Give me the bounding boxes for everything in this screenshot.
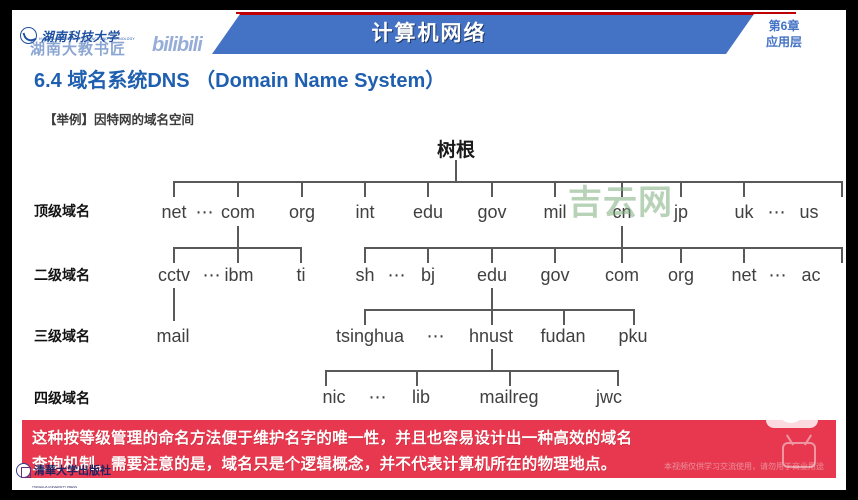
top-level-bus — [174, 181, 842, 183]
tree-node-ac-cn: ac — [801, 265, 820, 286]
tick-int — [364, 181, 366, 197]
play-button[interactable] — [766, 390, 818, 428]
tree-node-fudan: fudan — [540, 326, 585, 347]
slide-canvas: 计算机网络 第6章 应用层 湖南科技大学 HUNAN UNIVERSITY OF… — [12, 10, 846, 490]
cn-bus — [364, 247, 842, 249]
tick-ac-cn — [841, 247, 843, 263]
tick-fudan — [563, 309, 565, 325]
tree-node-sh: sh — [355, 265, 374, 286]
bilibili-watermark: bilibili — [152, 34, 202, 57]
publisher-name: 清華大学出版社 — [34, 462, 111, 478]
tick-mailreg — [509, 370, 511, 386]
tick-com-cn — [621, 247, 623, 263]
section-title-en: （Domain Name System） — [195, 70, 445, 92]
tick-org-cn — [680, 247, 682, 263]
tree-node-org-tld: org — [289, 202, 315, 223]
tree-node-gov-cn: gov — [540, 265, 569, 286]
tree-node-pku: pku — [618, 326, 647, 347]
cn-stem — [621, 226, 623, 248]
example-label: 【举例】因特网的域名空间 — [44, 109, 194, 128]
tick-mil — [554, 181, 556, 197]
tree-node-mailreg: mailreg — [479, 387, 538, 408]
cctv-stem — [173, 288, 175, 321]
tree-node-hnust: hnust — [469, 326, 513, 347]
tree-node-net-tld: net — [161, 202, 186, 223]
chapter-name: 应用层 — [732, 34, 836, 50]
tree-node-com-tld: com — [221, 202, 255, 223]
level-label-3: 三级域名 — [34, 326, 90, 346]
tree-node-int-tld: int — [355, 202, 374, 223]
ellipsis-l4-1: ⋯ — [369, 387, 388, 408]
tree-node-us-tld: us — [799, 202, 818, 223]
tree-node-edu-cn: edu — [477, 265, 507, 286]
tick-net-cn — [743, 247, 745, 263]
caption-line-1: 这种按等级管理的命名方法便于维护名字的唯一性，并且也容易设计出一种高效的域名 — [32, 425, 826, 451]
tree-node-root: 树根 — [437, 135, 475, 162]
tick-gov — [491, 181, 493, 197]
level-label-4: 四级域名 — [34, 388, 90, 408]
tick-cn — [621, 181, 623, 197]
tick-lib — [416, 370, 418, 386]
letterbox-top — [0, 0, 858, 10]
hnust-stem — [491, 349, 493, 371]
level-label-2: 二级域名 — [34, 265, 90, 285]
section-title-cn: 6.4 域名系统DNS — [34, 70, 190, 92]
section-title: 6.4 域名系统DNS （Domain Name System） — [34, 64, 445, 93]
tick-sh — [364, 247, 366, 263]
tick-edu — [427, 181, 429, 197]
tick-gov-cn — [554, 247, 556, 263]
com-stem — [237, 226, 239, 248]
tick-org — [301, 181, 303, 197]
tree-node-org-cn: org — [668, 265, 694, 286]
tick-com — [237, 181, 239, 197]
hnust-bus — [325, 370, 618, 372]
tick-us — [841, 181, 843, 197]
tick-tsinghua — [364, 309, 366, 325]
root-stem — [455, 160, 457, 182]
header-red-rule — [236, 12, 796, 15]
slide-header: 计算机网络 第6章 应用层 湖南科技大学 HUNAN UNIVERSITY OF… — [12, 10, 846, 58]
tick-nic — [325, 370, 327, 386]
publisher-seal-icon — [16, 463, 31, 478]
tree-node-uk-tld: uk — [734, 202, 753, 223]
tree-node-mail: mail — [156, 326, 189, 347]
play-icon — [785, 401, 800, 417]
tick-uk — [743, 181, 745, 197]
level-label-1: 顶级域名 — [34, 201, 90, 221]
tick-edu-cn — [491, 247, 493, 263]
ellipsis-tld-2: ⋯ — [768, 202, 787, 223]
ellipsis-l2-3: ⋯ — [769, 265, 788, 286]
tree-node-ti: ti — [297, 265, 306, 286]
dns-tree-diagram: 树根 net ⋯ com org int edu gov mil cn jp u… — [12, 128, 846, 418]
tick-hnust — [491, 309, 493, 325]
chapter-badge: 第6章 应用层 — [732, 18, 836, 50]
tick-cctv — [173, 247, 175, 263]
ellipsis-l2-2: ⋯ — [388, 265, 407, 286]
tree-node-nic: nic — [322, 387, 345, 408]
ellipsis-l2-1: ⋯ — [203, 265, 222, 286]
letterbox-left — [0, 0, 12, 500]
tick-pku — [633, 309, 635, 325]
tick-bj — [427, 247, 429, 263]
tree-node-cn-tld: cn — [612, 202, 631, 223]
tree-node-jp-tld: jp — [674, 202, 688, 223]
tree-node-net-cn: net — [731, 265, 756, 286]
uploader-watermark: 湖南大教书匠 — [30, 38, 240, 58]
tree-node-com-cn: com — [605, 265, 639, 286]
edu-cn-stem — [491, 288, 493, 310]
tree-node-gov-tld: gov — [477, 202, 506, 223]
tree-node-mil-tld: mil — [544, 202, 567, 223]
tree-node-tsinghua: tsinghua — [336, 326, 404, 347]
ellipsis-l3-1: ⋯ — [427, 326, 446, 347]
tree-node-ibm: ibm — [224, 265, 253, 286]
ellipsis-tld-1: ⋯ — [196, 202, 215, 223]
tick-jp — [680, 181, 682, 197]
tick-net — [173, 181, 175, 197]
tree-node-bj: bj — [421, 265, 435, 286]
tree-node-jwc: jwc — [596, 387, 622, 408]
bilibili-tv-icon — [782, 442, 816, 468]
tick-ibm — [237, 247, 239, 263]
tree-node-edu-tld: edu — [413, 202, 443, 223]
tick-ti — [300, 247, 302, 263]
edu-cn-bus — [364, 309, 634, 311]
tree-node-lib: lib — [412, 387, 430, 408]
letterbox-bottom — [0, 490, 858, 500]
tree-node-cctv: cctv — [158, 265, 190, 286]
publisher-name-en: TSINGHUA UNIVERSITY PRESS — [32, 485, 77, 489]
letterbox-right — [846, 0, 858, 500]
publisher-logo: 清華大学出版社 — [16, 458, 111, 482]
chapter-number: 第6章 — [732, 18, 836, 34]
tick-jwc — [617, 370, 619, 386]
